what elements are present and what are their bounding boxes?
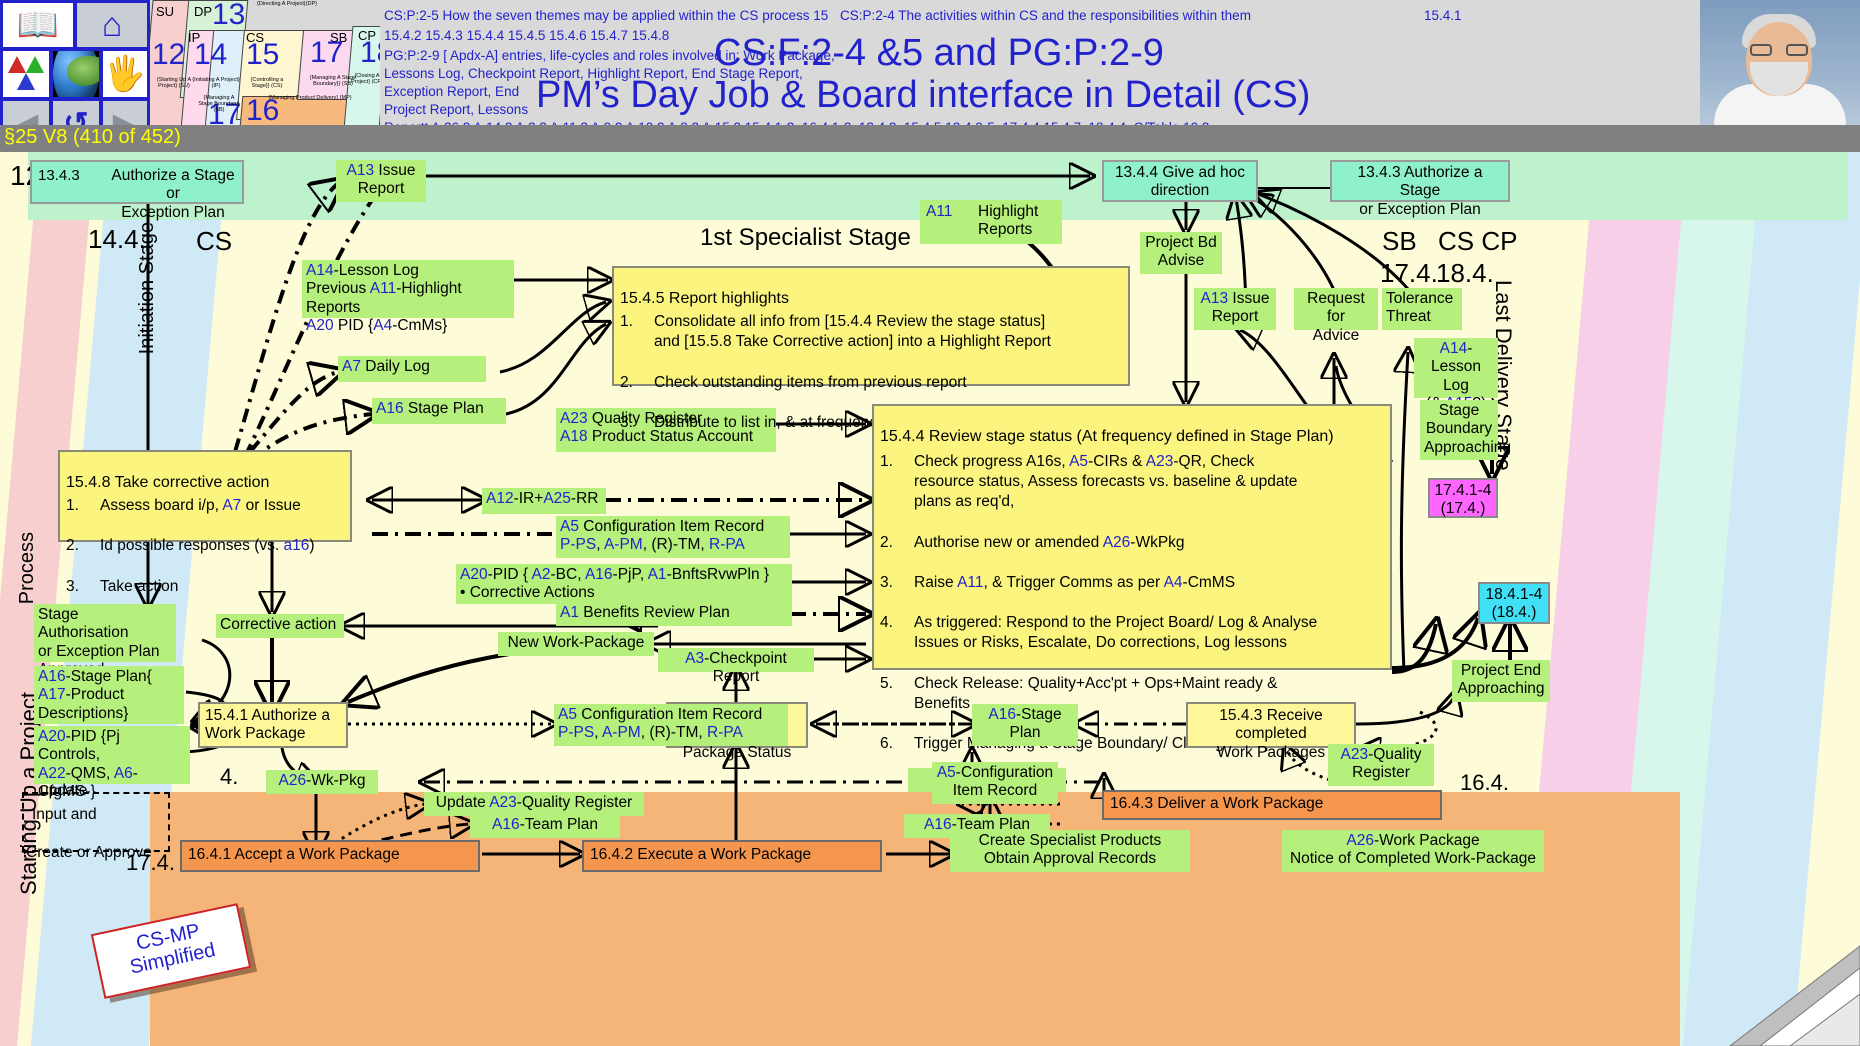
lane-num-mp: 4.	[220, 764, 238, 790]
header-line-8: Project Report, Lessons	[384, 102, 528, 117]
a11-code: A11	[926, 203, 952, 221]
item-num: 2.	[620, 373, 654, 393]
activity-1545-report-highlights[interactable]: 15.4.5 Report highlights 1.Consolidate a…	[612, 266, 1130, 386]
box-1344-give-adhoc-direction[interactable]: 13.4.4 Give ad hoc direction	[1102, 160, 1258, 202]
box-update-a23-quality-register: Update A23-Quality Register	[424, 792, 644, 816]
page-title-line2: PM’s Day Job & Board interface in Detail…	[536, 74, 1310, 117]
box-a12-ir-a25-rr: A12-IR+A25-RR	[482, 488, 606, 514]
box-a26-work-package-notice: A26-Work PackageNotice of Completed Work…	[1282, 830, 1544, 872]
item-text: Take action	[100, 577, 178, 597]
item-text: Assess board i/p, A7 or Issue	[100, 496, 301, 516]
header-line-1: CS:P:2-5 How the seven themes may be app…	[384, 8, 828, 23]
lane-title-cscp: CS CP	[1438, 226, 1517, 257]
item-num: 2.	[880, 533, 914, 553]
book-icon: 📖	[17, 8, 59, 42]
lane-num-164-bottom: 16.4.	[1460, 770, 1509, 796]
section-reference: §25 V8 (410 of 452)	[4, 126, 181, 149]
box-a5-config-item-record-2: A5 Configuration Item Record P-PS, A-PM,…	[554, 704, 788, 746]
hand-button[interactable]: 🖐	[100, 48, 150, 100]
box-request-for-advice: Request for Advice	[1294, 288, 1378, 330]
lane-label-initiation: Initiation Stage	[136, 222, 159, 354]
box-create-specialist-products: Create Specialist Products Obtain Approv…	[950, 830, 1190, 872]
box-1343-num-left: 13.4.3	[38, 167, 80, 185]
box-1841-4: 18.4.1-4 (18.4.)	[1478, 582, 1550, 624]
diagram-canvas: 12 Process Starting Up a Project 14.4. I…	[0, 152, 1860, 1046]
ribbon-code-su: SU	[156, 4, 174, 19]
lane-title-sb: SB	[1382, 226, 1417, 257]
ribbon-num-14: 14	[194, 40, 227, 70]
ribbon-num-18: 18	[360, 38, 380, 68]
item-num: 6.	[880, 734, 914, 754]
box-a26-wk-pkg: A26-Wk-Pkg	[266, 770, 378, 794]
box-a11-highlight-reports: A11 Highlight Reports	[920, 200, 1062, 244]
item-num: 3.	[880, 573, 914, 593]
hand-icon: 🖐	[104, 57, 146, 91]
activity-1642-execute-work-package[interactable]: 16.4.2 Execute a Work Package	[582, 840, 882, 872]
box-1741-4: 17.4.1-4 (17.4.)	[1428, 478, 1498, 518]
box-a5-configuration-item-record: A5-ConfigurationItem Record	[932, 762, 1058, 804]
header-line-4: 15.4.2 15.4.3 15.4.4 15.4.5 15.4.6 15.4.…	[384, 28, 669, 43]
box-a23-quality-register: A23-QualityRegister	[1328, 744, 1434, 786]
activity-1548-items: 1.Assess board i/p, A7 or Issue 2.Id pos…	[66, 476, 352, 617]
label-specialist-stage: 1st Specialist Stage	[700, 224, 911, 252]
box-a20-pid-controls: A20-PID {Pj Controls,A22-QMS, A6-CfgMS-}	[34, 726, 190, 784]
item-text: Authorise new or amended A26-WkPkg	[914, 533, 1185, 553]
box-1343-authorize-right[interactable]: 13.4.3 Authorize a Stage or Exception Pl…	[1330, 160, 1510, 202]
ribbon-caption-ip: {Initiating A Project} (IP)	[192, 78, 240, 90]
box-corrective-action: Corrective action	[216, 614, 344, 638]
box-new-work-package: New Work-Package	[498, 632, 654, 656]
header-line-2: CS:P:2-4 The activities within CS and th…	[840, 8, 1251, 23]
item-num: 2.	[66, 536, 100, 556]
dashed-group-box	[22, 792, 170, 852]
box-a20-pid-corrective-actions: A20-PID { A2-BC, A16-PjP, A1-BnftsRvwPln…	[456, 564, 792, 604]
box-a16-team-plan-left: A16-Team Plan	[470, 814, 620, 838]
box-1343-authorize-left[interactable]: 13.4.3 Authorize a Stage or Exception Pl…	[30, 160, 244, 204]
a11-text: Highlight Reports	[978, 203, 1038, 240]
item-num: 1.	[880, 452, 914, 512]
box-a3-checkpoint-report-top: A3-Checkpoint Report	[658, 648, 814, 672]
box-a14-lesson-log-inputs: A14-Lesson LogPrevious A11-Highlight Rep…	[302, 260, 514, 318]
box-a13-issue-report-top[interactable]: A13 Issue Report	[336, 160, 426, 202]
book-button[interactable]: 📖	[0, 0, 76, 50]
item-num: 5.	[880, 674, 914, 714]
ribbon-caption-cs: {Controlling a Stage}} (CS)	[242, 78, 292, 90]
lane-label-project: Process	[16, 532, 39, 604]
box-a14-lesson-log-right: A14-LessonLog(& A15?)	[1414, 338, 1498, 398]
box-a16-stage-plan-left: A16 Stage Plan	[372, 398, 506, 424]
item-text: As triggered: Respond to the Project Boa…	[914, 613, 1317, 653]
item-text: Check outstanding items from previous re…	[654, 373, 967, 393]
item-text: Consolidate all info from [15.4.4 Review…	[654, 312, 1051, 352]
box-tolerance-threat: Tolerance Threat	[1382, 288, 1462, 330]
item-num: 1.	[620, 312, 654, 352]
page-title-line1: CS:F:2-4 &5 and PG:P:2-9	[714, 32, 1164, 75]
ribbon-code-dp: DP	[194, 4, 212, 19]
activity-1541-authorize-work-package[interactable]: 15.4.1 Authorize a Work Package	[198, 702, 348, 748]
item-num: 3.	[620, 413, 654, 433]
ribbon-caption-cp: {Closing A Project} (CP)	[350, 74, 380, 86]
ribbon-num-17: 17	[310, 38, 343, 68]
lane-title-cs: CS	[196, 226, 232, 257]
lane-num-sb: 17.4.	[1380, 258, 1438, 289]
box-project-end-approaching: Project End Approaching	[1452, 660, 1550, 702]
item-num: 1.	[66, 496, 100, 516]
activity-1548-take-corrective-action[interactable]: 15.4.8 Take corrective action 1.Assess b…	[58, 450, 352, 542]
page-curl-decoration	[1720, 886, 1860, 1046]
box-a13-issue-report-right: A13 Issue Report	[1194, 288, 1276, 330]
item-num: 3.	[66, 577, 100, 597]
rgb-triangle-logo-icon	[6, 55, 46, 93]
activity-1543-receive-completed-work-packages[interactable]: 15.4.3 Receive completed Work Packages	[1186, 702, 1356, 748]
header-line-3: 15.4.1	[1424, 8, 1462, 23]
item-text: Raise A11, & Trigger Comms as per A4-CmM…	[914, 573, 1235, 593]
ribbon-caption-mp: {Managing Product Delivery} (MP)	[262, 96, 358, 102]
home-button[interactable]: ⌂	[74, 0, 150, 50]
section-strip	[0, 125, 1860, 152]
activity-1544-review-stage-status[interactable]: 15.4.4 Review stage status (At frequency…	[872, 404, 1392, 670]
box-a7-daily-log: A7 Daily Log	[338, 356, 486, 382]
presenter-glasses-icon	[1750, 44, 1808, 56]
box-project-bd-advise: Project Bd Advise	[1140, 232, 1222, 274]
box-a16-stage-plan-product-desc: A16-Stage Plan{ A17-Product Descriptions…	[34, 666, 184, 724]
box-a16-stage-plan-right: A16-Stage Plan	[972, 704, 1078, 746]
ribbon-caption-su: {Starting Up A Project} (SU)	[152, 78, 196, 90]
box-a5-config-item-record-1: A5 Configuration Item Record P-PS, A-PM,…	[556, 516, 790, 558]
box-a1-benefits-review-plan: A1 Benefits Review Plan	[556, 602, 792, 626]
logo-button[interactable]	[0, 48, 52, 100]
item-text: Id possible responses (vs. a16)	[100, 536, 315, 556]
globe-icon	[53, 48, 99, 100]
home-icon: ⌂	[102, 8, 123, 42]
globe-button[interactable]	[50, 48, 102, 100]
lane-num-cp: 18.4.	[1436, 258, 1494, 289]
activity-1643-deliver-work-package[interactable]: 16.4.3 Deliver a Work Package	[1102, 790, 1442, 820]
header-line-7: Exception Report, End	[384, 84, 519, 99]
ribbon-num-12: 12	[152, 40, 185, 70]
item-num: 4.	[880, 613, 914, 653]
ribbon-caption-dp: {Directing A Project}(DP)	[212, 2, 362, 8]
box-1343-text-left: Authorize a Stage or Exception Plan	[104, 167, 242, 222]
ribbon-num-15: 15	[246, 40, 279, 70]
activity-1641-accept-work-package[interactable]: 16.4.1 Accept a Work Package	[180, 840, 480, 872]
item-text: Check progress A16s, A5-CIRs & A23-QR, C…	[914, 452, 1297, 512]
box-stage-boundary-approaching: Stage Boundary Approaching	[1420, 400, 1498, 460]
ribbon-caption-sb1: {Managing A Stage Boundary}(SB)	[196, 96, 242, 113]
